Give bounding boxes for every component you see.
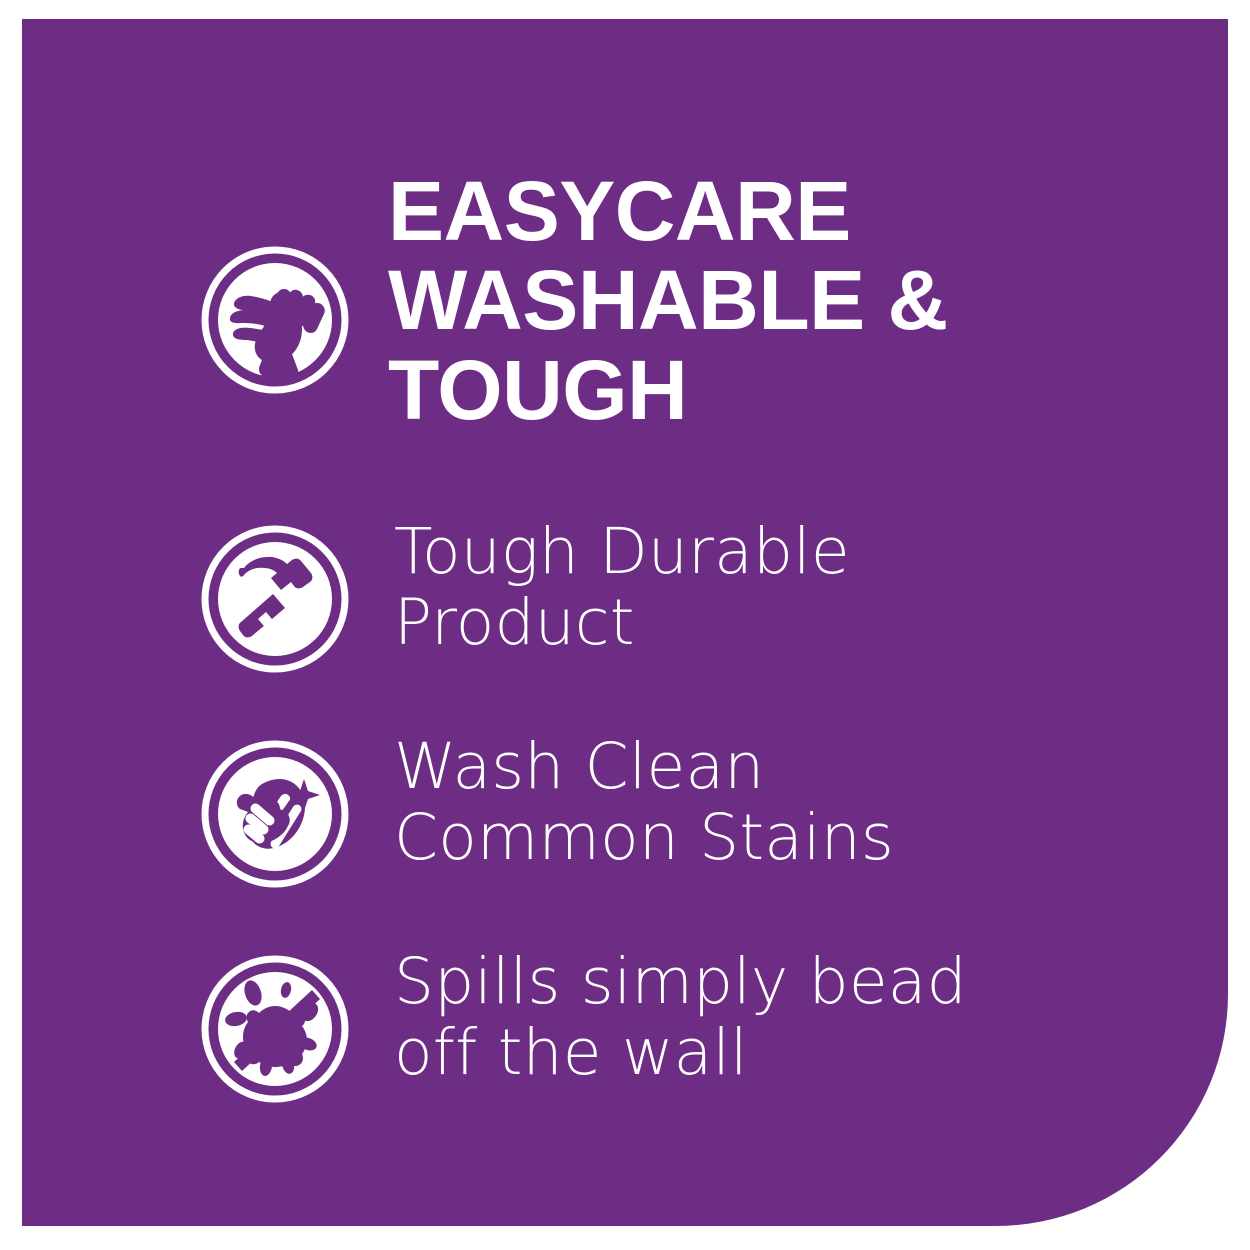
hammer-icon [200,524,350,674]
headline-text: EASYCARE WASHABLE & TOUGH [388,167,948,435]
feature-row-easycare: EASYCARE WASHABLE & TOUGH [182,219,1182,479]
feature-text-spills-bead: Spills simply bead off the wall [394,946,967,1088]
no-splash-icon [200,954,350,1104]
feature-text-wash-clean: Wash Clean Common Stains [394,731,894,873]
washing-hands-icon [200,245,350,395]
feature-text-tough-durable: Tough Durable Product [394,516,850,658]
feature-panel: EASYCARE WASHABLE & TOUGH Tough Durable … [22,19,1228,1226]
feature-row-tough-durable: Tough Durable Product [182,511,1182,691]
feature-row-spills-bead: Spills simply bead off the wall [182,941,1182,1121]
feature-row-wash-clean: Wash Clean Common Stains [182,726,1182,906]
wipe-clean-sparkle-icon [200,739,350,889]
